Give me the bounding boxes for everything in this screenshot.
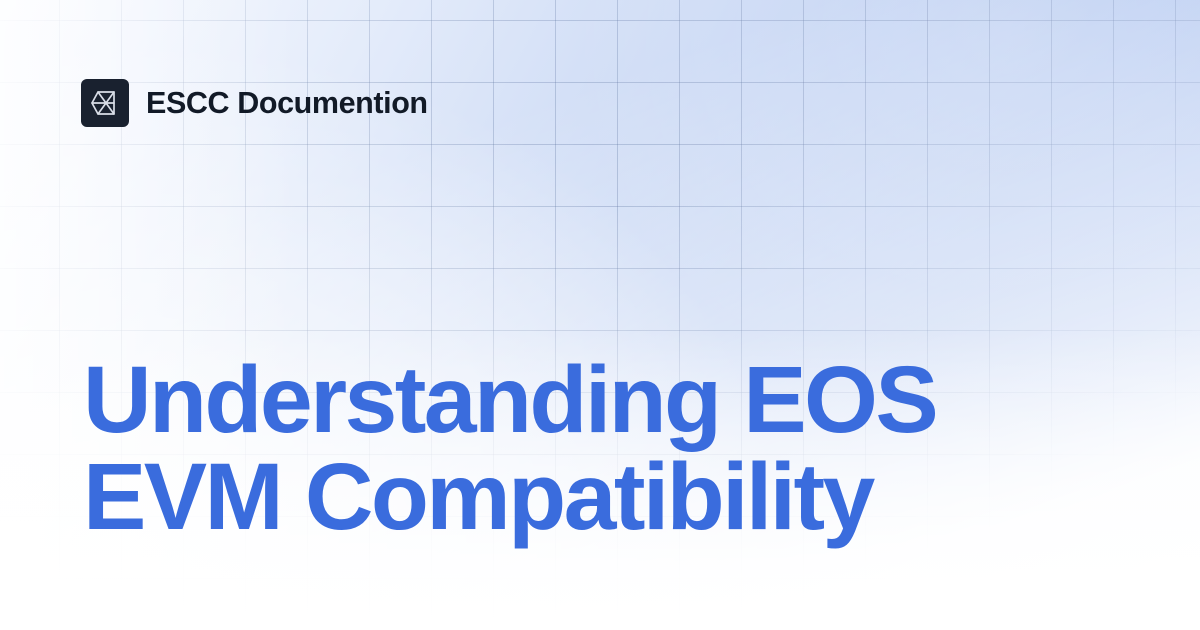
- brand-header: ESCC Documention: [81, 79, 428, 127]
- page-title-line-2: EVM Compatibility: [83, 449, 1083, 546]
- page-title: Understanding EOS EVM Compatibility: [83, 352, 1083, 546]
- page-title-line-1: Understanding EOS: [83, 352, 1083, 449]
- og-card-canvas: ESCC Documention Understanding EOS EVM C…: [0, 0, 1200, 630]
- brand-name-label: ESCC Documention: [146, 88, 428, 119]
- bowtie-hexagon-logo-icon: [81, 79, 129, 127]
